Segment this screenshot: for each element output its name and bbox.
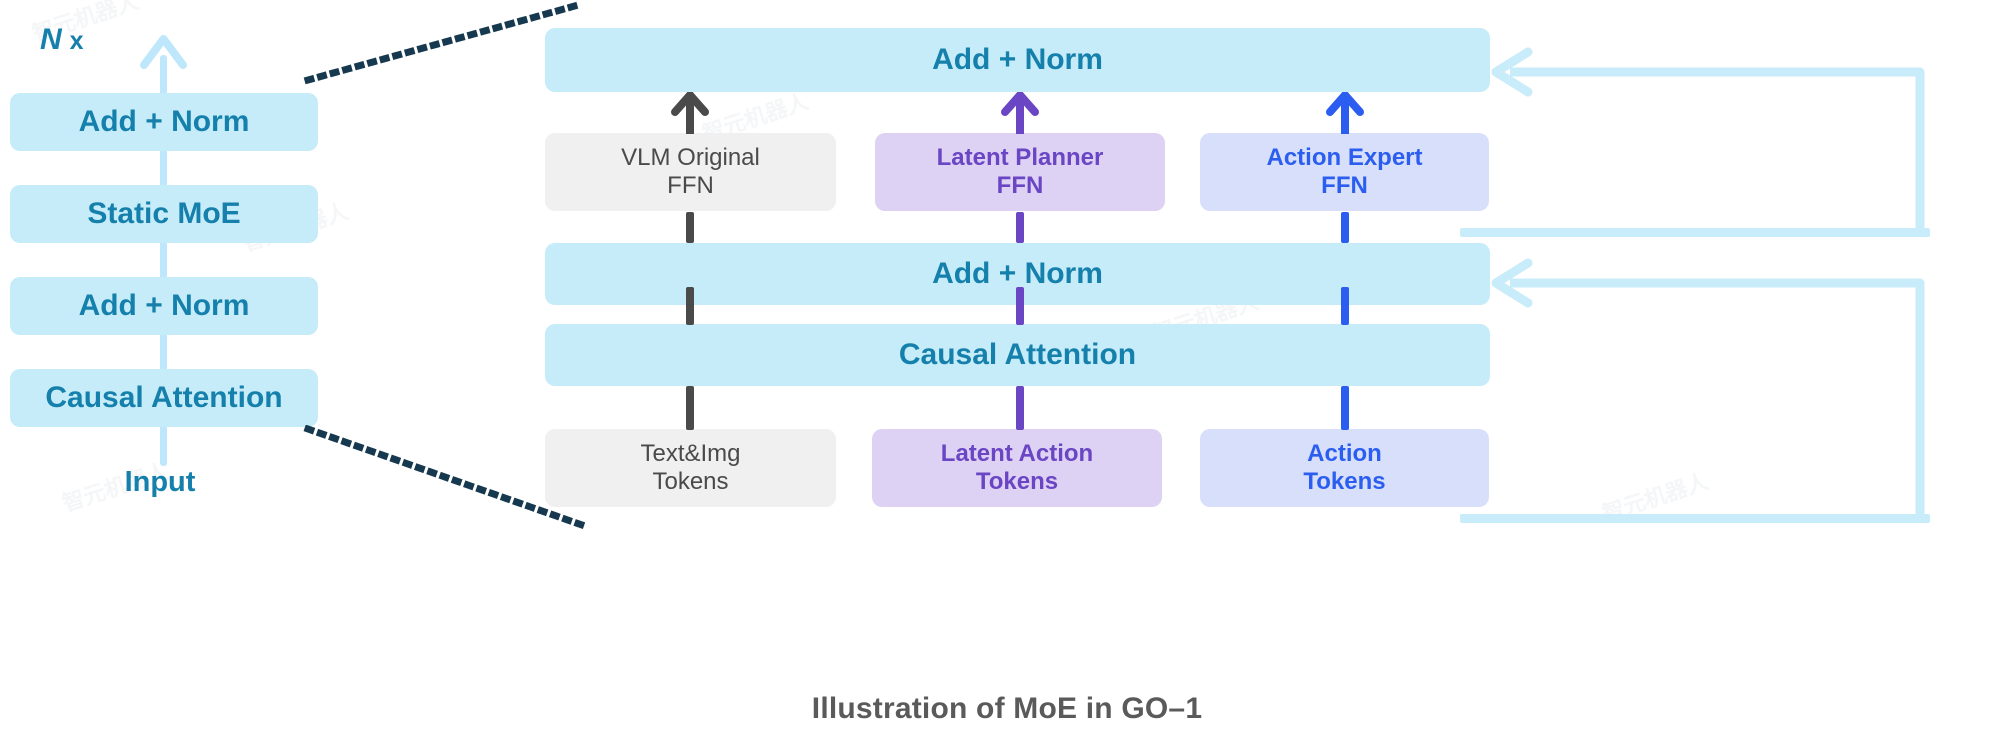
bar-vlm-midnorm-ffn <box>686 212 694 243</box>
ffn-action-expert: Action Expert FFN <box>1200 133 1489 211</box>
left-block-label: Add + Norm <box>79 104 250 139</box>
left-block-add-norm-bottom: Add + Norm <box>10 277 318 335</box>
bar-vlm-causal-midnorm <box>686 287 694 325</box>
residual-tail-upper <box>1460 228 1930 237</box>
left-block-label: Static MoE <box>87 196 240 231</box>
diagram-canvas: 智元机器人 智元机器人 智元机器人 智元机器人 智元机器人 智元机器人 N x … <box>0 0 2014 748</box>
right-causal-attention-label: Causal Attention <box>899 337 1136 372</box>
arrow-vlm-to-addnorm <box>670 92 710 134</box>
ffn-vlm-line2: FFN <box>621 172 760 200</box>
tokens-action-text: Action Tokens <box>1303 440 1385 497</box>
bar-action-tokens-causal <box>1341 386 1349 430</box>
bar-latent-tokens-causal <box>1016 386 1024 430</box>
left-block-static-moe: Static MoE <box>10 185 318 243</box>
left-input-label: Input <box>60 466 260 499</box>
bar-latent-causal-midnorm <box>1016 287 1024 325</box>
bar-vlm-tokens-causal <box>686 386 694 430</box>
repeat-count-label: N x <box>40 23 84 57</box>
ffn-latent-text: Latent Planner FFN <box>937 144 1104 201</box>
tokens-action: Action Tokens <box>1200 429 1489 507</box>
right-add-norm-top-label: Add + Norm <box>932 42 1103 77</box>
left-block-label: Causal Attention <box>45 380 282 415</box>
arrow-action-to-addnorm <box>1325 92 1365 134</box>
residual-loop-upper <box>1480 40 1940 240</box>
residual-loop-lower <box>1480 255 1940 530</box>
right-causal-attention: Causal Attention <box>545 324 1490 386</box>
ffn-vlm-text: VLM Original FFN <box>621 144 760 201</box>
tokens-action-line2: Tokens <box>1303 468 1385 496</box>
tokens-latent-action-line1: Latent Action <box>941 440 1093 468</box>
repeat-count-x: x <box>62 27 84 55</box>
bar-action-midnorm-ffn <box>1341 212 1349 243</box>
tokens-text-img: Text&Img Tokens <box>545 429 836 507</box>
tokens-latent-action-line2: Tokens <box>941 468 1093 496</box>
arrow-latent-to-addnorm <box>1000 92 1040 134</box>
tokens-latent-action: Latent Action Tokens <box>872 429 1162 507</box>
tokens-text-img-line2: Tokens <box>640 468 740 496</box>
tokens-text-img-text: Text&Img Tokens <box>640 440 740 497</box>
left-block-add-norm-top: Add + Norm <box>10 93 318 151</box>
bar-action-causal-midnorm <box>1341 287 1349 325</box>
ffn-action-line1: Action Expert <box>1266 144 1422 172</box>
tokens-action-line1: Action <box>1303 440 1385 468</box>
residual-tail-lower <box>1460 514 1930 523</box>
left-block-causal-attention: Causal Attention <box>10 369 318 427</box>
repeat-count-n: N <box>40 23 62 56</box>
left-block-label: Add + Norm <box>79 288 250 323</box>
ffn-latent-line2: FFN <box>937 172 1104 200</box>
ffn-action-line2: FFN <box>1266 172 1422 200</box>
bar-latent-midnorm-ffn <box>1016 212 1024 243</box>
tokens-latent-action-text: Latent Action Tokens <box>941 440 1093 497</box>
ffn-vlm-original: VLM Original FFN <box>545 133 836 211</box>
ffn-latent-planner: Latent Planner FFN <box>875 133 1165 211</box>
figure-caption: Illustration of MoE in GO–1 <box>0 692 2014 726</box>
ffn-vlm-line1: VLM Original <box>621 144 760 172</box>
tokens-text-img-line1: Text&Img <box>640 440 740 468</box>
right-add-norm-top: Add + Norm <box>545 28 1490 92</box>
ffn-latent-line1: Latent Planner <box>937 144 1104 172</box>
ffn-action-text: Action Expert FFN <box>1266 144 1422 201</box>
